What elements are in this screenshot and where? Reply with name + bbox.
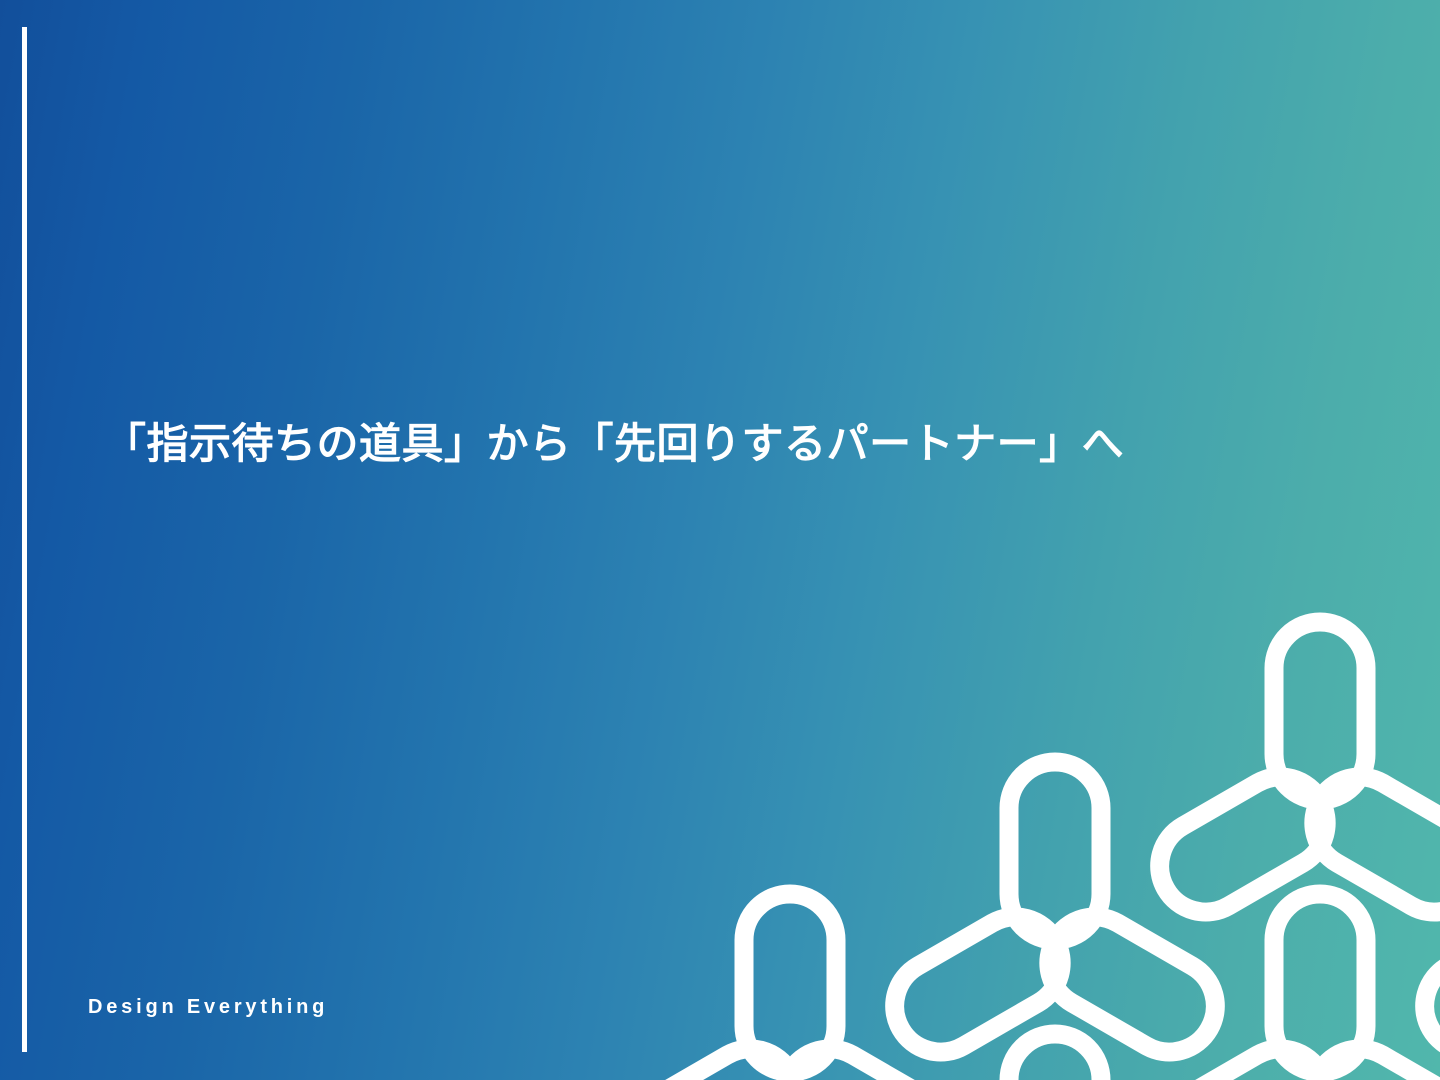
slide-title: 「指示待ちの道具」から「先回りするパートナー」へ	[104, 414, 1284, 475]
footer-brand-label: Design Everything	[88, 996, 328, 1019]
left-accent-rule	[22, 27, 27, 1052]
background-gradient	[0, 0, 1440, 1080]
presentation-slide: 「指示待ちの道具」から「先回りするパートナー」へ Design Everythi…	[0, 0, 1440, 1080]
